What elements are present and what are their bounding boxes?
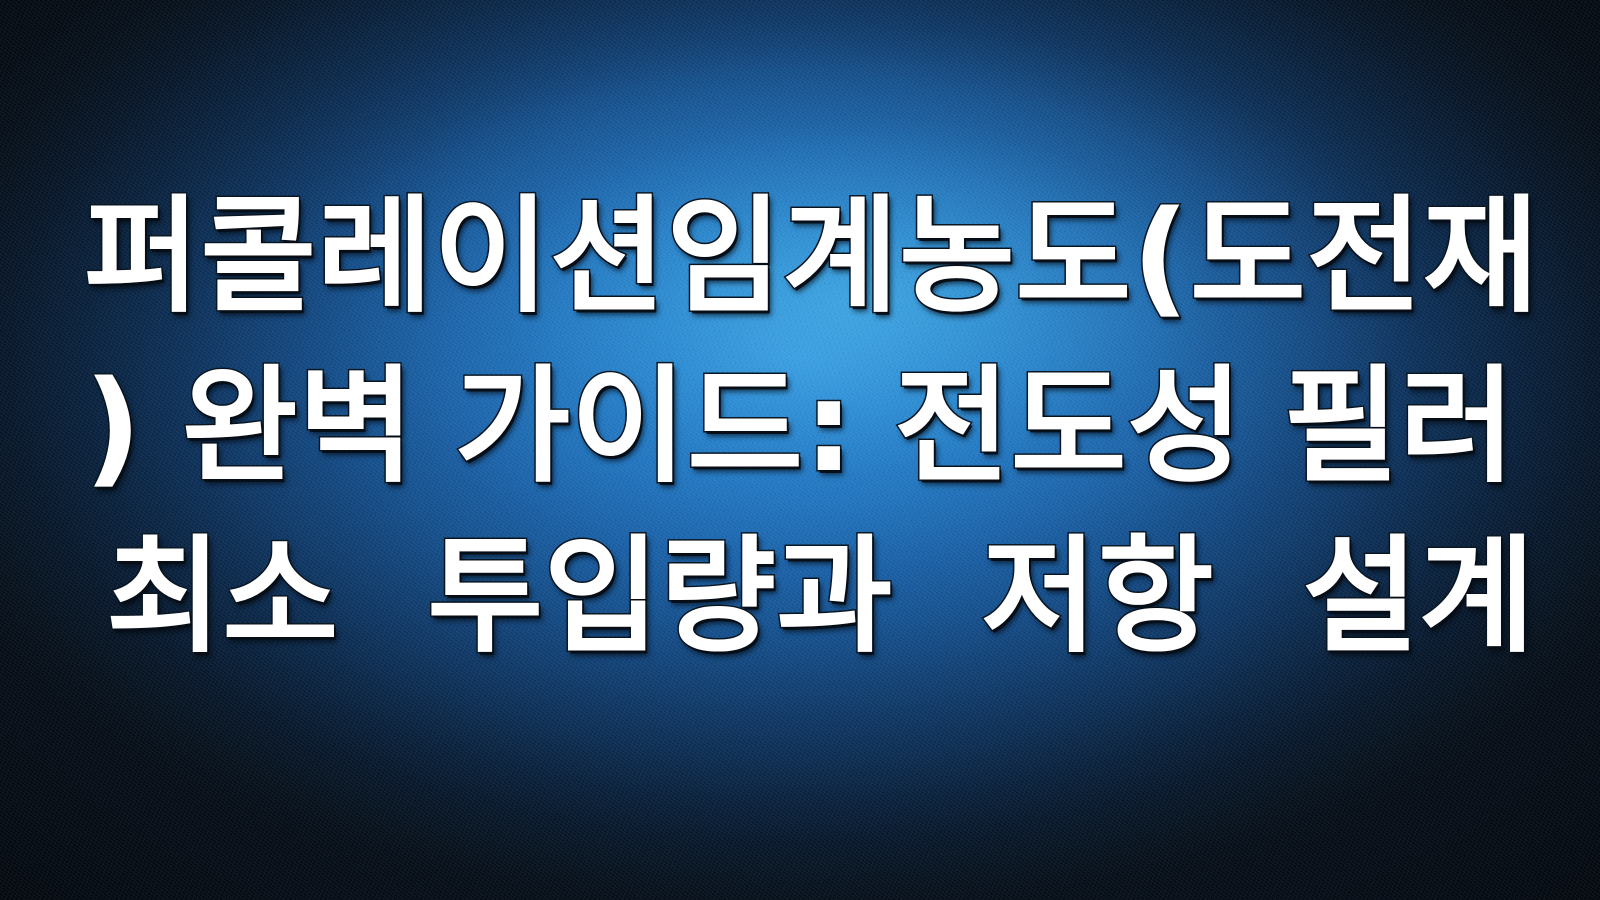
title-line-2-segment-4: 전도성 — [894, 342, 1243, 512]
title-line-3-segment-3: 저항 — [981, 512, 1214, 682]
title-line-2-segment-3: 가이드: — [454, 342, 854, 512]
title-slide: 퍼콜레이션 임계농도(도전재 ) 완벽 가이드: 전도성 필러 최소 투입량과 … — [0, 0, 1600, 900]
title-line-3-segment-1: 최소 — [106, 512, 339, 682]
title-line-1-segment-2: 임계농도(도전재 — [666, 172, 1539, 342]
title-line-2-segment-5: 필러 — [1283, 342, 1516, 512]
title-line-1: 퍼콜레이션 임계농도(도전재 — [0, 172, 1600, 342]
title-line-2-segment-2: 완벽 — [182, 342, 415, 512]
title-line-2-segment-1: ) — [84, 342, 142, 512]
title-line-2: ) 완벽 가이드: 전도성 필러 — [0, 342, 1600, 512]
title-line-1-segment-1: 퍼콜레이션 — [84, 172, 666, 342]
slide-title: 퍼콜레이션 임계농도(도전재 ) 완벽 가이드: 전도성 필러 최소 투입량과 … — [0, 172, 1600, 682]
title-line-3: 최소 투입량과 저항 설계 — [0, 512, 1600, 682]
title-line-3-segment-4: 설계 — [1303, 512, 1536, 682]
title-line-3-segment-2: 투입량과 — [427, 512, 893, 682]
